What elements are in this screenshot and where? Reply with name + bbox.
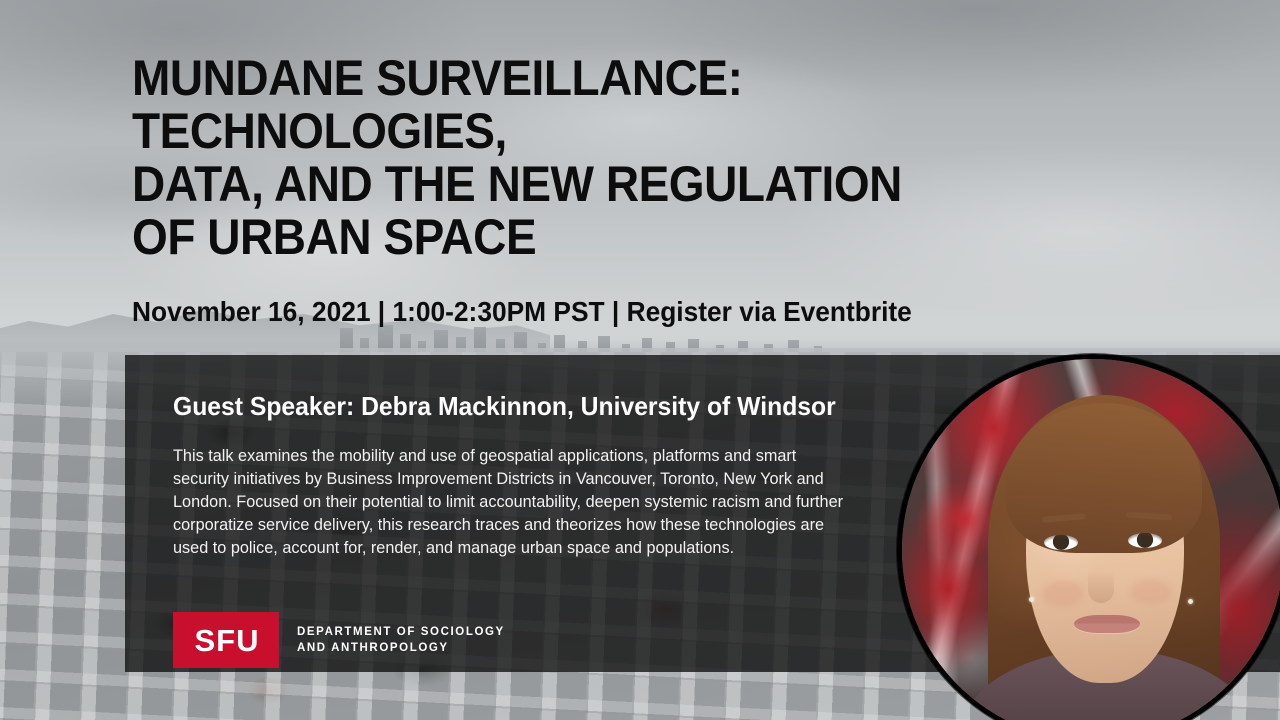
- event-poster: Mundane Surveillance: Technologies, Data…: [0, 0, 1280, 720]
- page-title: Mundane Surveillance: Technologies, Data…: [132, 52, 1126, 264]
- sfu-wordmark-box: SFU: [173, 612, 279, 668]
- eye-left: [1044, 535, 1078, 550]
- cheek-left: [1042, 581, 1084, 607]
- earring-right: [1188, 599, 1193, 604]
- hair-fringe: [1006, 403, 1202, 553]
- cheek-right: [1130, 579, 1172, 605]
- sfu-logo: SFU Department of Sociology and Anthropo…: [173, 612, 505, 668]
- event-date-time-registration: November 16, 2021 | 1:00-2:30PM PST | Re…: [132, 296, 1147, 328]
- sfu-wordmark-text: SFU: [193, 625, 260, 656]
- title-block: Mundane Surveillance: Technologies, Data…: [132, 52, 1212, 328]
- speaker-portrait: [897, 354, 1280, 720]
- talk-abstract: This talk examines the mobility and use …: [173, 445, 853, 560]
- nose: [1088, 549, 1114, 603]
- earring-left: [1029, 597, 1034, 602]
- eye-right: [1128, 533, 1162, 548]
- sfu-department-name: Department of Sociology and Anthropology: [297, 624, 505, 656]
- guest-speaker-heading: Guest Speaker: Debra Mackinnon, Universi…: [173, 391, 838, 421]
- info-panel-content: Guest Speaker: Debra Mackinnon, Universi…: [173, 391, 873, 560]
- mouth: [1074, 615, 1140, 633]
